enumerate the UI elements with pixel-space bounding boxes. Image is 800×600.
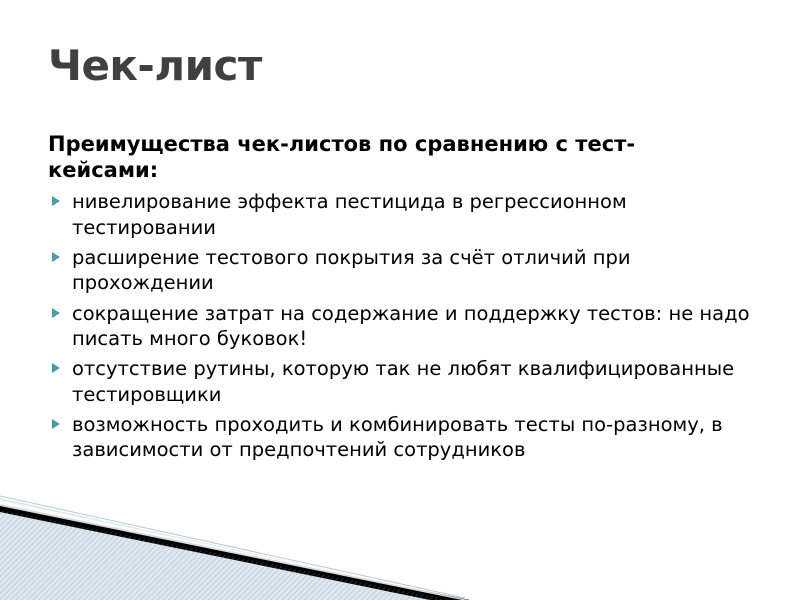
decoration-outline bbox=[0, 496, 465, 598]
decoration-white-sliver bbox=[0, 500, 468, 600]
list-item: нивелирование эффекта пестицида в регрес… bbox=[48, 189, 772, 240]
decoration-black-band bbox=[0, 504, 470, 600]
slide-body: Преимущества чек-листов по сравнению с т… bbox=[48, 132, 760, 468]
triangle-right-icon bbox=[52, 363, 60, 373]
advantages-list: нивелирование эффекта пестицида в регрес… bbox=[48, 189, 760, 462]
decoration-hatch-triangle bbox=[0, 510, 452, 600]
body-subtitle: Преимущества чек-листов по сравнению с т… bbox=[48, 132, 708, 183]
page-title: Чек-лист bbox=[48, 44, 262, 88]
list-item-text: расширение тестового покрытия за счёт от… bbox=[72, 246, 631, 294]
slide: Чек-лист Преимущества чек-листов по срав… bbox=[0, 0, 800, 600]
list-item-text: отсутствие рутины, которую так не любят … bbox=[72, 357, 734, 405]
decoration-blue-wedge bbox=[0, 498, 800, 600]
triangle-right-icon bbox=[52, 419, 60, 429]
list-item-text: сокращение затрат на содержание и поддер… bbox=[72, 302, 750, 350]
list-item-text: нивелирование эффекта пестицида в регрес… bbox=[72, 190, 627, 238]
list-item: расширение тестового покрытия за счёт от… bbox=[48, 245, 772, 296]
triangle-right-icon bbox=[52, 308, 60, 318]
corner-decoration bbox=[0, 480, 800, 600]
triangle-right-icon bbox=[52, 252, 60, 262]
list-item: отсутствие рутины, которую так не любят … bbox=[48, 356, 772, 407]
list-item: сокращение затрат на содержание и поддер… bbox=[48, 301, 772, 352]
triangle-right-icon bbox=[52, 196, 60, 206]
list-item: возможность проходить и комбинировать те… bbox=[48, 412, 772, 463]
list-item-text: возможность проходить и комбинировать те… bbox=[72, 413, 723, 461]
